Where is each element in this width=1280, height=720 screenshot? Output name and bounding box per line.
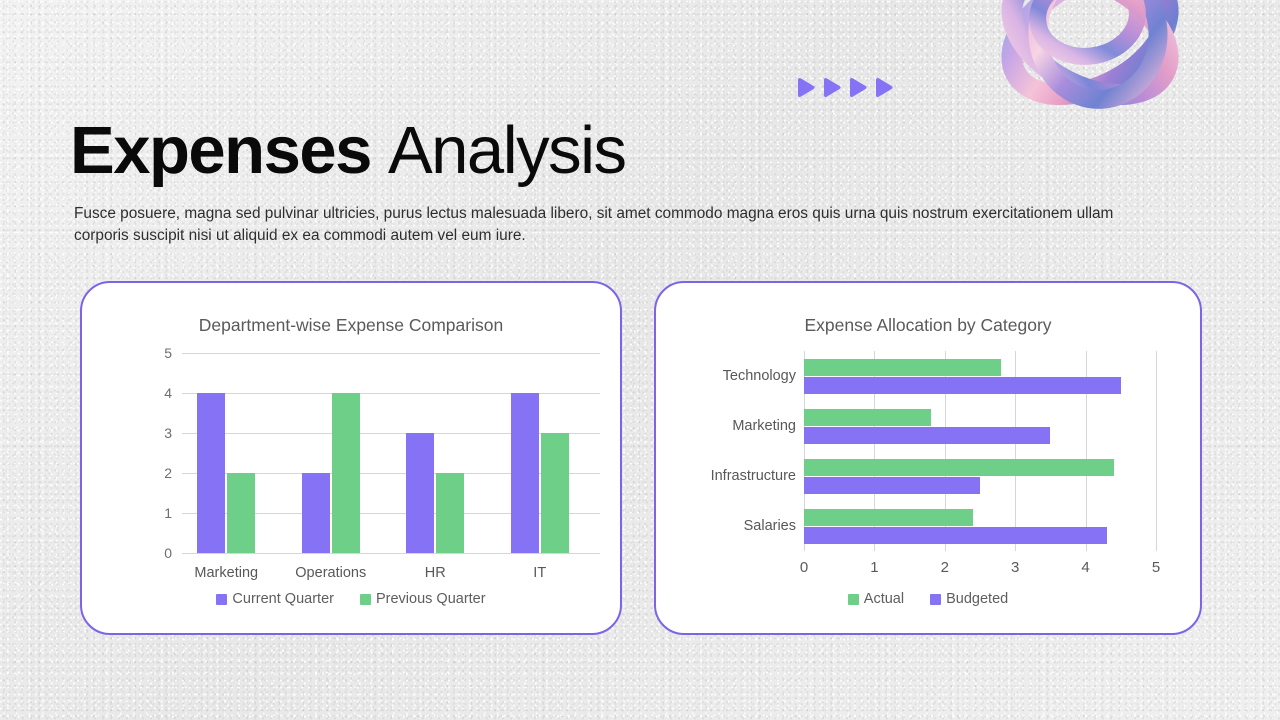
chart-card-expense-allocation: Expense Allocation by Category 012345Tec… [654,281,1202,635]
legend-item[interactable]: Previous Quarter [360,591,486,607]
bar [541,433,569,553]
bar [406,433,434,553]
legend-label: Previous Quarter [376,591,486,607]
y-axis-category-label: Marketing [660,418,796,434]
legend-swatch [216,594,227,605]
legend-swatch [930,594,941,605]
bar [302,473,330,553]
bar [197,393,225,553]
horizontal-bar-plot: 012345TechnologyMarketingInfrastructureS… [804,351,1156,551]
y-axis-tick-label: 4 [142,385,172,401]
bar [804,377,1121,394]
play-triangle-icon [824,77,841,98]
bar [227,473,255,553]
legend-swatch [848,594,859,605]
legend-label: Current Quarter [232,591,334,607]
legend-item[interactable]: Budgeted [930,591,1008,607]
page-title: Expenses Analysis [70,114,625,188]
gridline [182,553,600,554]
gridline [1156,351,1157,551]
legend-label: Actual [864,591,904,607]
y-axis-tick-label: 0 [142,545,172,561]
legend-label: Budgeted [946,591,1008,607]
legend-right: ActualBudgeted [656,591,1200,607]
bar [804,527,1107,544]
x-axis-category-label: IT [533,565,546,581]
legend-item[interactable]: Current Quarter [216,591,334,607]
bar [804,459,1114,476]
bar [804,359,1001,376]
legend-swatch [360,594,371,605]
y-axis-tick-label: 1 [142,505,172,521]
chart-title-left: Department-wise Expense Comparison [82,315,620,336]
legend-left: Current QuarterPrevious Quarter [82,591,620,607]
bar [436,473,464,553]
page-title-light: Analysis [388,113,625,188]
x-axis-tick-label: 0 [800,559,808,576]
play-triangle-icon [850,77,867,98]
x-axis-tick-label: 5 [1152,559,1160,576]
y-axis-tick-label: 5 [142,345,172,361]
bar [804,427,1050,444]
y-axis-category-label: Salaries [660,518,796,534]
play-triangle-icon [798,77,815,98]
bar [804,409,931,426]
bar [804,509,973,526]
play-triangle-icon [876,77,893,98]
bar [332,393,360,553]
bar [804,477,980,494]
iridescent-3d-knot-icon [975,0,1205,132]
chart-card-department-comparison: Department-wise Expense Comparison 01234… [80,281,622,635]
y-axis-tick-label: 3 [142,425,172,441]
vertical-bar-plot: 012345MarketingOperationsHRIT [142,353,600,553]
x-axis-category-label: Operations [295,565,366,581]
legend-item[interactable]: Actual [848,591,904,607]
bar [511,393,539,553]
chart-title-right: Expense Allocation by Category [656,315,1200,336]
y-axis-category-label: Infrastructure [660,468,796,484]
decorative-triangles [798,77,893,98]
x-axis-tick-label: 1 [870,559,878,576]
x-axis-tick-label: 2 [941,559,949,576]
x-axis-category-label: Marketing [194,565,258,581]
y-axis-category-label: Technology [660,368,796,384]
x-axis-tick-label: 4 [1081,559,1089,576]
y-axis-tick-label: 2 [142,465,172,481]
gridline [182,353,600,354]
x-axis-tick-label: 3 [1011,559,1019,576]
page-subtitle: Fusce posuere, magna sed pulvinar ultric… [74,203,1154,247]
page-title-bold: Expenses [70,113,371,188]
x-axis-category-label: HR [425,565,446,581]
